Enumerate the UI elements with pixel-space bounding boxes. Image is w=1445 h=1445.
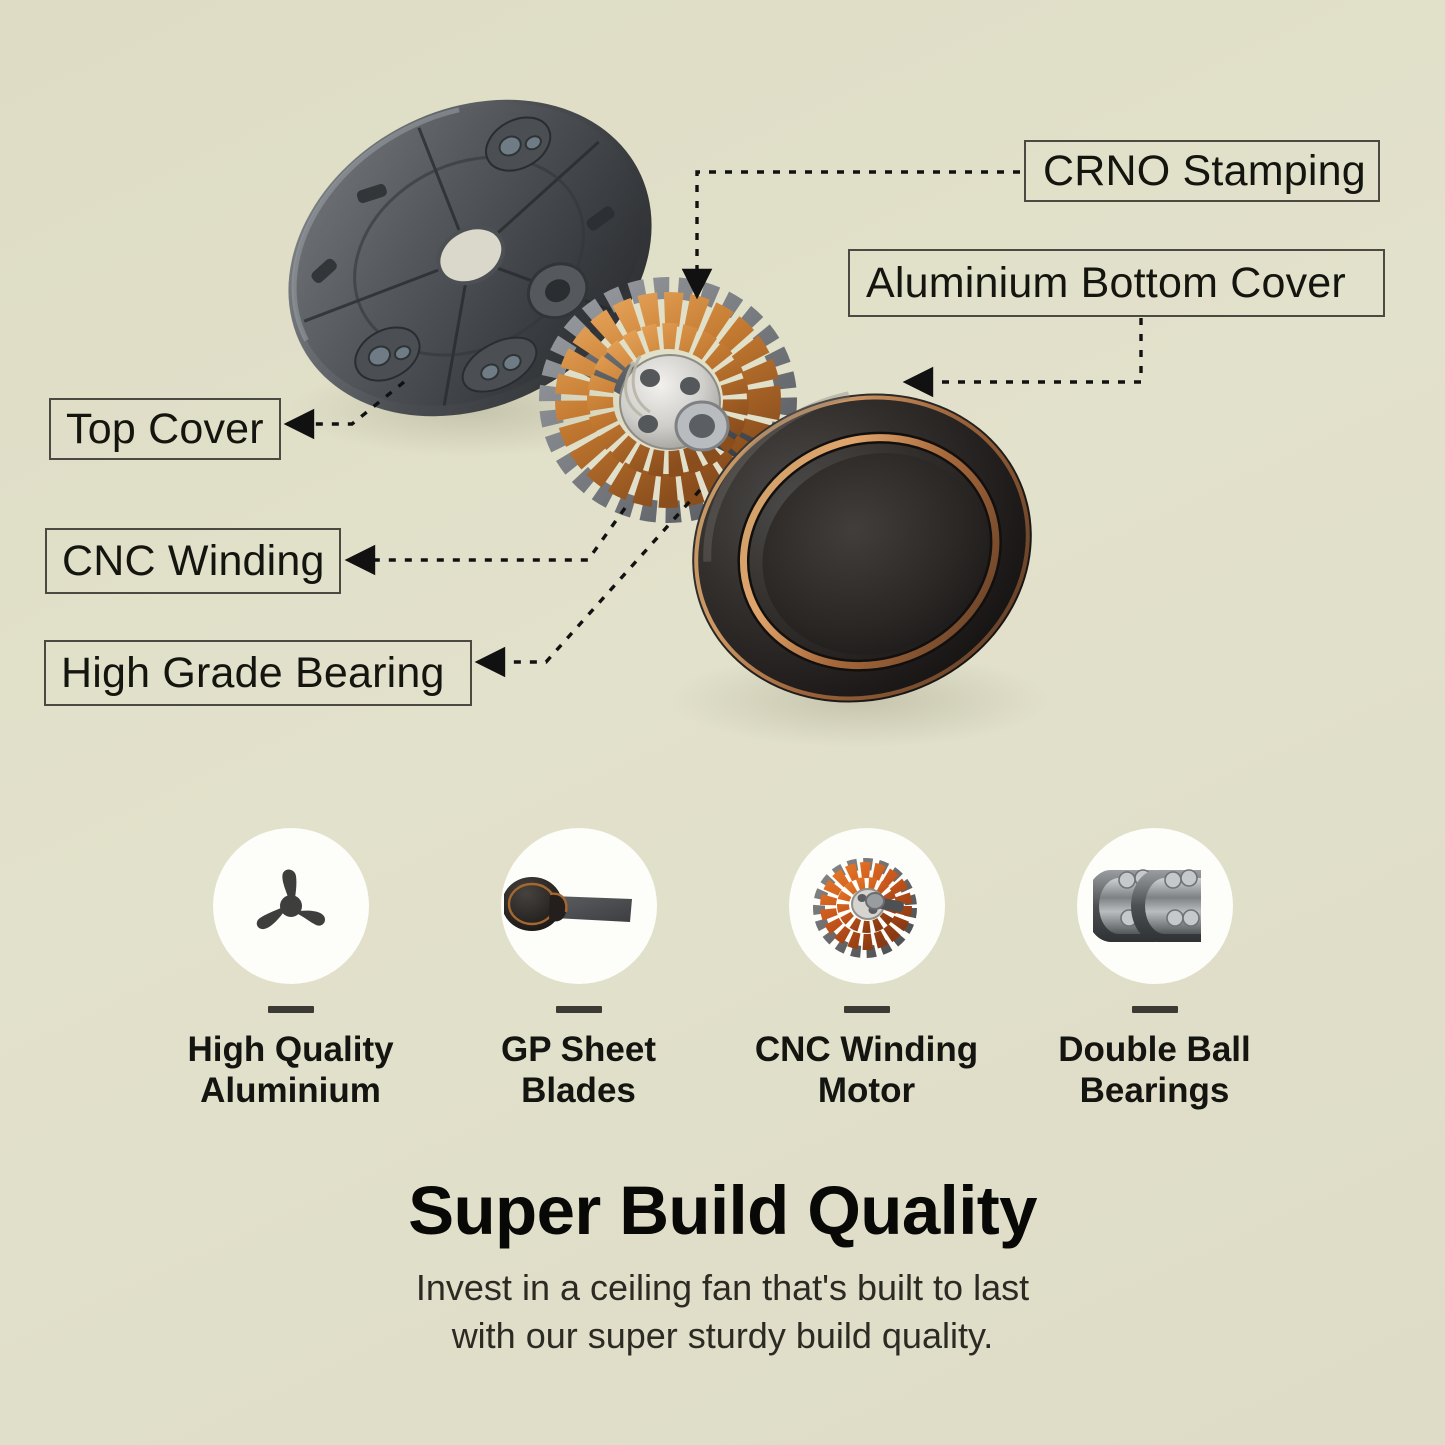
callout-top-cover: Top Cover bbox=[49, 398, 281, 460]
subheadline-line1: Invest in a ceiling fan that's built to … bbox=[0, 1264, 1445, 1312]
infographic-canvas: Top Cover CNC Winding High Grade Bearing… bbox=[0, 0, 1445, 1445]
feature-highlights: High Quality Aluminium bbox=[0, 828, 1445, 1128]
callout-crno-stamping: CRNO Stamping bbox=[1024, 140, 1380, 202]
footer-block: Super Build Quality Invest in a ceiling … bbox=[0, 1175, 1445, 1360]
feature-label-line1: CNC Winding bbox=[755, 1030, 978, 1071]
headline: Super Build Quality bbox=[0, 1175, 1445, 1247]
feature-divider-dash bbox=[844, 1006, 890, 1013]
connector-cnc-winding bbox=[348, 508, 625, 560]
feature-divider-dash bbox=[1132, 1006, 1178, 1013]
feature-label: Double Ball Bearings bbox=[1058, 1030, 1251, 1112]
callout-crno-stamping-label: CRNO Stamping bbox=[1043, 147, 1366, 196]
feature-divider-dash bbox=[268, 1006, 314, 1013]
fan-blade-icon bbox=[241, 856, 341, 956]
callout-cnc-winding-label: CNC Winding bbox=[62, 537, 325, 586]
subheadline: Invest in a ceiling fan that's built to … bbox=[0, 1264, 1445, 1360]
feature-item: CNC Winding Motor bbox=[752, 828, 982, 1128]
feature-label: GP Sheet Blades bbox=[501, 1030, 656, 1112]
callout-high-grade-bearing: High Grade Bearing bbox=[44, 640, 472, 706]
feature-label-line1: Double Ball bbox=[1058, 1030, 1251, 1071]
feature-label-line1: GP Sheet bbox=[501, 1030, 656, 1071]
ball-bearing-icon bbox=[1093, 854, 1217, 958]
feature-label-line2: Aluminium bbox=[187, 1071, 393, 1112]
feature-icon-circle bbox=[1077, 828, 1233, 984]
connector-aluminium-bottom-cover bbox=[906, 318, 1141, 382]
feature-item: High Quality Aluminium bbox=[176, 828, 406, 1128]
feature-item: GP Sheet Blades bbox=[464, 828, 694, 1128]
bearing-front bbox=[1131, 870, 1201, 942]
callout-high-grade-bearing-label: High Grade Bearing bbox=[61, 649, 445, 698]
feature-icon-circle bbox=[501, 828, 657, 984]
feature-label-line2: Bearings bbox=[1058, 1071, 1251, 1112]
feature-label-line2: Blades bbox=[501, 1071, 656, 1112]
exploded-motor-diagram: Top Cover CNC Winding High Grade Bearing… bbox=[0, 0, 1445, 790]
feature-label: CNC Winding Motor bbox=[755, 1030, 978, 1112]
winding-motor-icon bbox=[809, 848, 925, 964]
sheet-blade-icon bbox=[504, 856, 654, 956]
callout-aluminium-bottom-cover-label: Aluminium Bottom Cover bbox=[866, 259, 1346, 308]
feature-label-line1: High Quality bbox=[187, 1030, 393, 1071]
feature-icon-circle bbox=[789, 828, 945, 984]
feature-icon-circle bbox=[213, 828, 369, 984]
feature-label-line2: Motor bbox=[755, 1071, 978, 1112]
callout-aluminium-bottom-cover: Aluminium Bottom Cover bbox=[848, 249, 1385, 317]
feature-divider-dash bbox=[556, 1006, 602, 1013]
feature-label: High Quality Aluminium bbox=[187, 1030, 393, 1112]
subheadline-line2: with our super sturdy build quality. bbox=[0, 1312, 1445, 1360]
callout-top-cover-label: Top Cover bbox=[66, 405, 264, 454]
feature-item: Double Ball Bearings bbox=[1040, 828, 1270, 1128]
callout-cnc-winding: CNC Winding bbox=[45, 528, 341, 594]
